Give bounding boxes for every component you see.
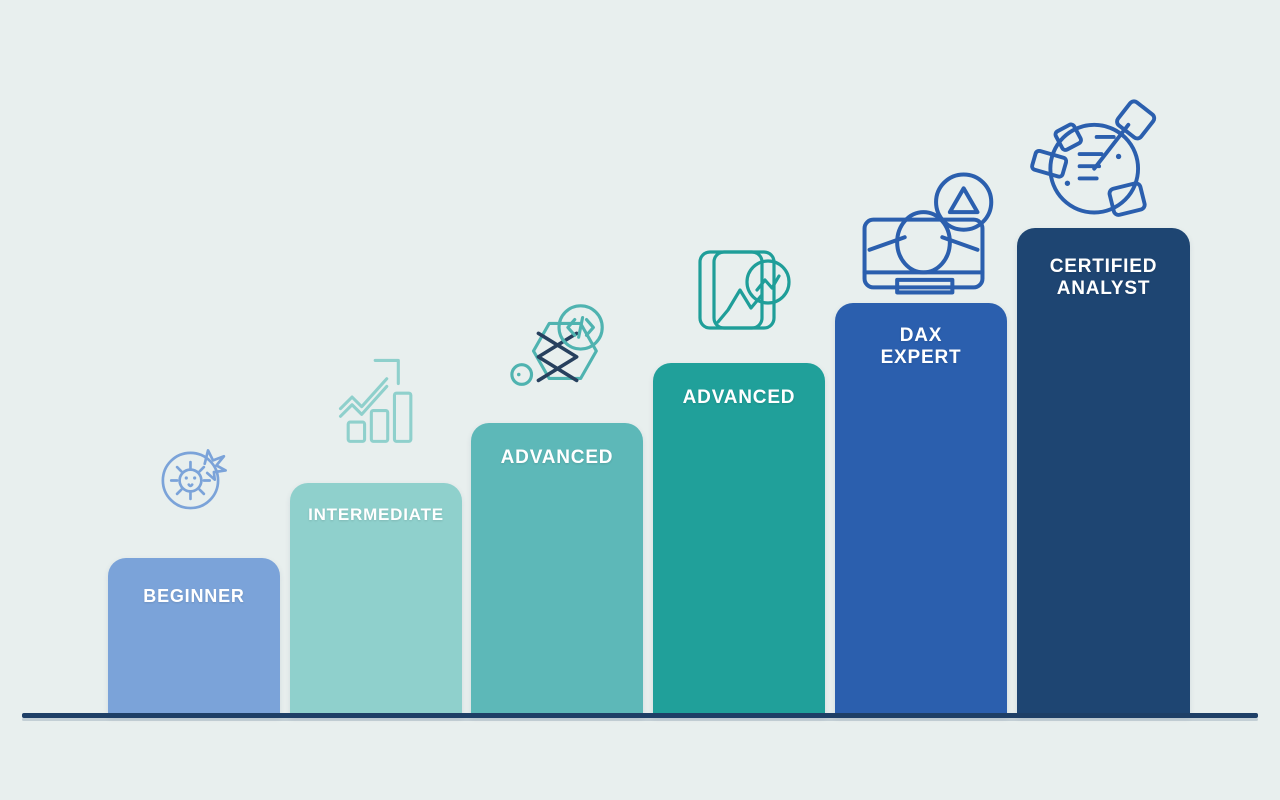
bar-label-certified-analyst: CERTIFIED ANALYST	[1050, 256, 1157, 716]
chart-baseline	[22, 713, 1258, 718]
bar-dax-expert[interactable]: DAX EXPERT	[835, 303, 1007, 716]
growth-chart-icon	[327, 345, 433, 451]
bar-advanced-1[interactable]: ADVANCED	[471, 423, 643, 716]
bar-intermediate[interactable]: INTERMEDIATE	[290, 483, 462, 716]
dashboard-monitor-icon	[852, 172, 990, 310]
bar-label-dax-expert: DAX EXPERT	[881, 325, 962, 716]
bar-label-intermediate: INTERMEDIATE	[308, 505, 444, 716]
bar-label-advanced-2: ADVANCED	[683, 387, 796, 716]
data-model-code-icon	[506, 296, 614, 404]
report-analysis-icon	[688, 238, 798, 348]
chart-canvas: BEGINNERINTERMEDIATEADVANCEDADVANCEDDAX …	[0, 0, 1280, 800]
baseline-shadow	[22, 718, 1258, 721]
bar-certified-analyst[interactable]: CERTIFIED ANALYST	[1017, 228, 1190, 716]
bar-advanced-2[interactable]: ADVANCED	[653, 363, 825, 716]
bar-label-advanced-1: ADVANCED	[501, 447, 614, 716]
bar-label-beginner: BEGINNER	[143, 586, 244, 716]
sun-badge-icon	[152, 437, 244, 529]
bar-beginner[interactable]: BEGINNER	[108, 558, 280, 716]
certification-medal-icon	[1026, 98, 1160, 232]
